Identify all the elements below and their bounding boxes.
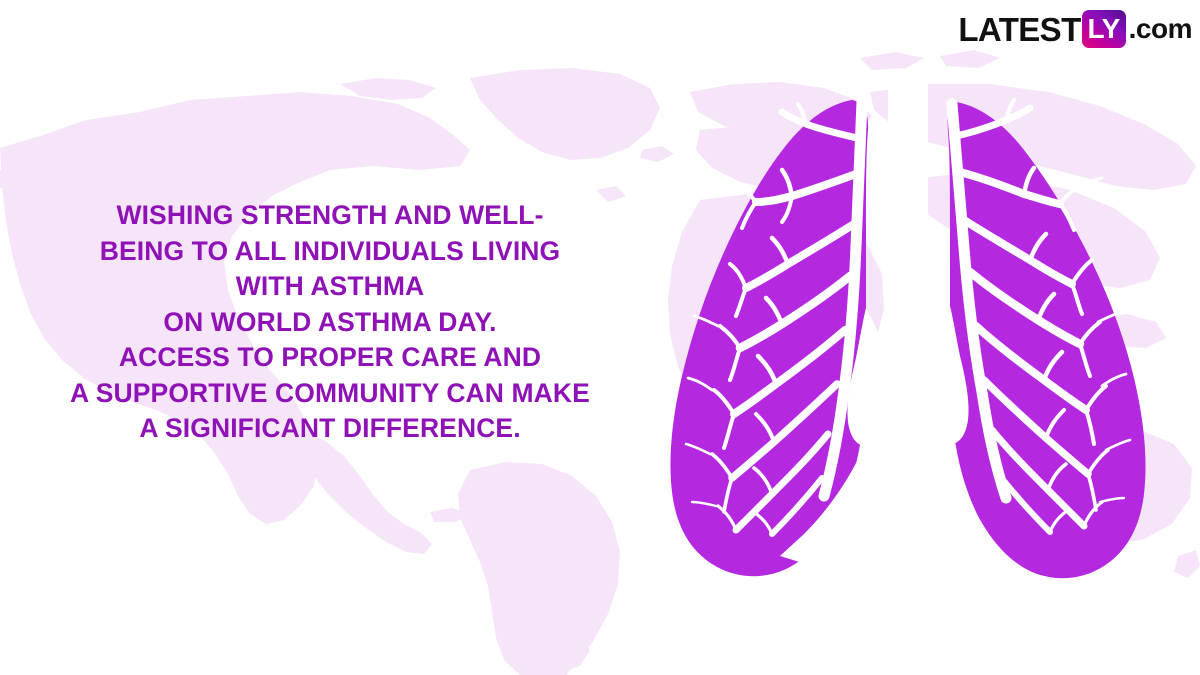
greeting-message: WISHING STRENGTH AND WELL- BEING TO ALL …: [20, 198, 640, 447]
message-line-4: ON WORLD ASTHMA DAY.: [20, 305, 640, 341]
message-line-6: A SUPPORTIVE COMMUNITY CAN MAKE: [20, 376, 640, 412]
logo-domain-suffix: .com: [1129, 15, 1192, 43]
logo-badge: LY: [1082, 10, 1126, 48]
message-line-5: ACCESS TO PROPER CARE AND: [20, 340, 640, 376]
poster-canvas: WISHING STRENGTH AND WELL- BEING TO ALL …: [0, 0, 1200, 675]
latestly-logo[interactable]: LATEST LY .com: [958, 8, 1192, 50]
logo-wordmark: LATEST: [958, 13, 1080, 46]
message-line-2: BEING TO ALL INDIVIDUALS LIVING: [20, 234, 640, 270]
logo-badge-text: LY: [1088, 15, 1120, 43]
message-line-1: WISHING STRENGTH AND WELL-: [20, 198, 640, 234]
message-line-3: WITH ASTHMA: [20, 269, 640, 305]
message-line-7: A SIGNIFICANT DIFFERENCE.: [20, 411, 640, 447]
lungs-illustration: [600, 78, 1200, 598]
